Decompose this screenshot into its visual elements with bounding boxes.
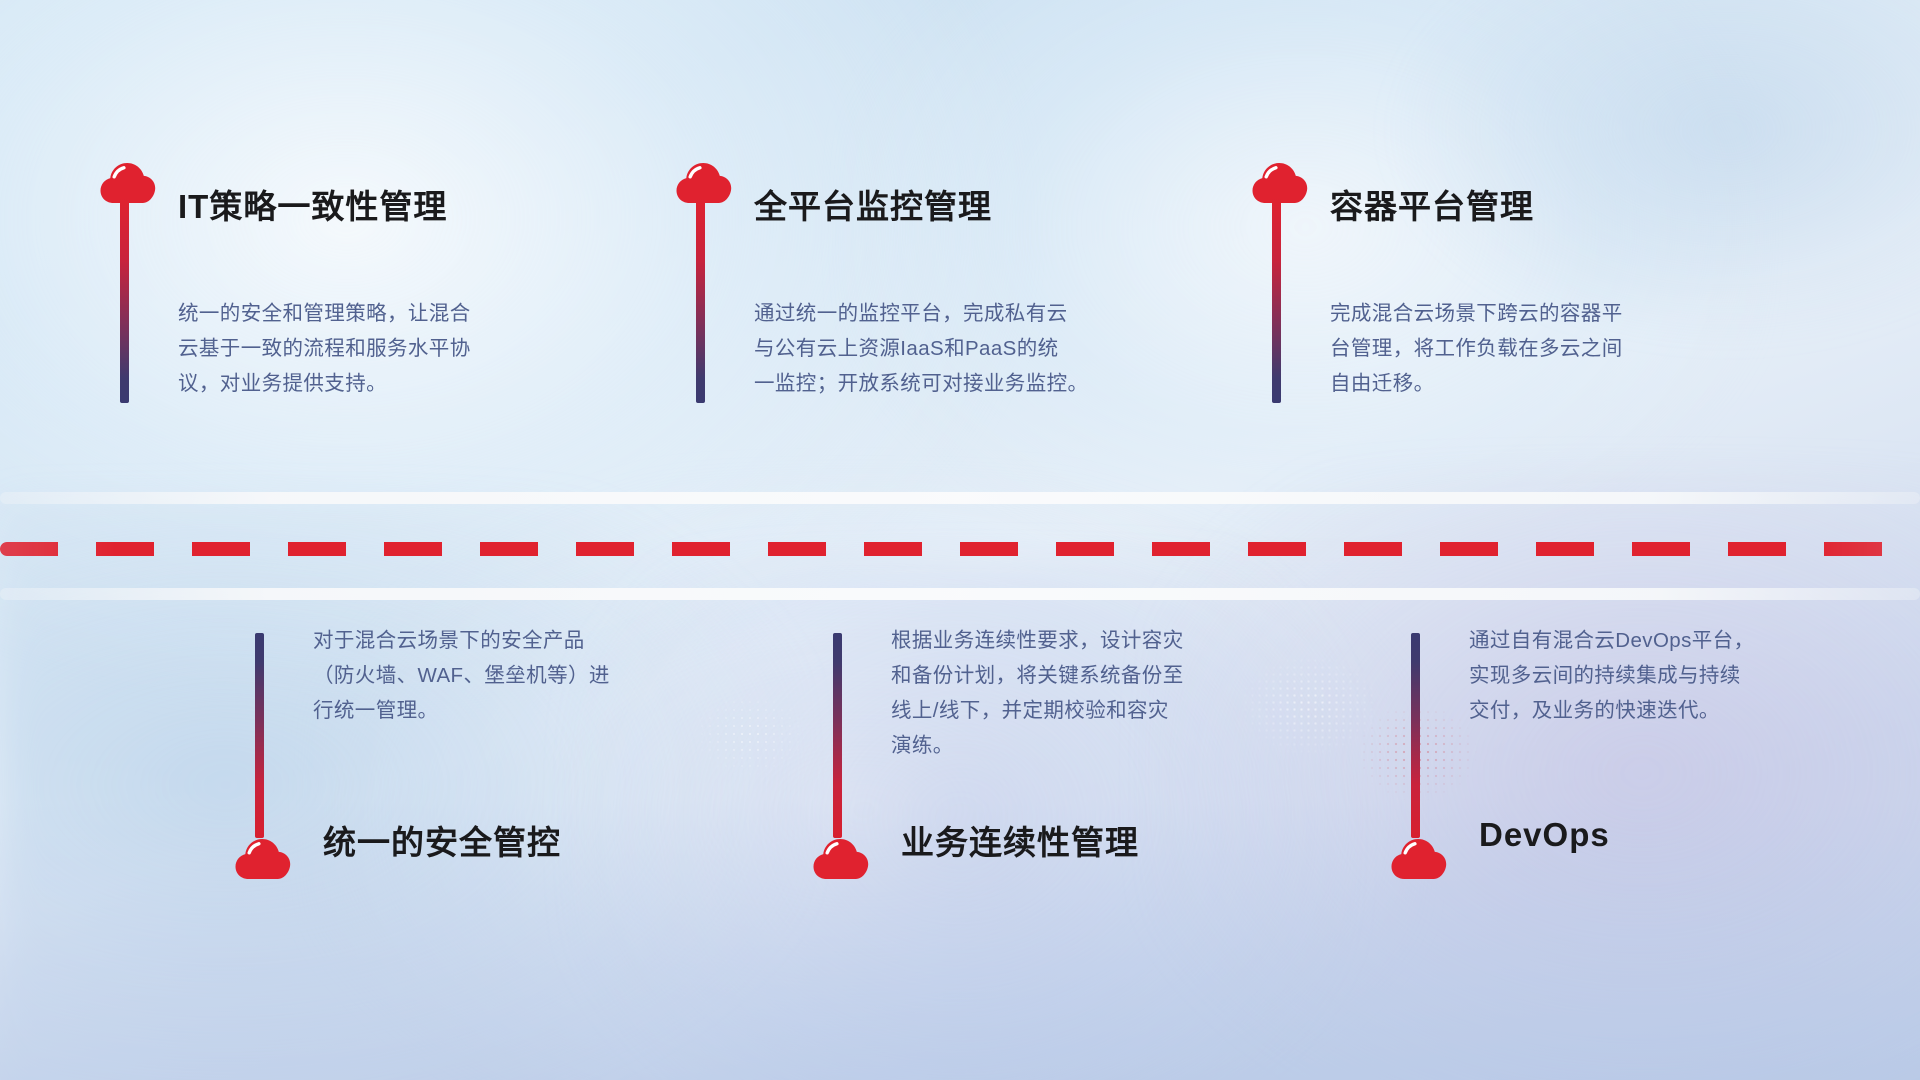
desc-line: 根据业务连续性要求，设计容灾 xyxy=(891,623,1184,658)
road-dashed-centerline xyxy=(0,542,1920,556)
cloud-icon xyxy=(812,836,870,880)
pin-stem xyxy=(1272,198,1281,403)
card-description: 通过自有混合云DevOps平台， 实现多云间的持续集成与持续 交付，及业务的快速… xyxy=(1469,623,1754,728)
infographic-canvas: IT策略一致性管理 统一的安全和管理策略，让混合 云基于一致的流程和服务水平协 … xyxy=(0,0,1920,1080)
desc-line: 一监控；开放系统可对接业务监控。 xyxy=(754,366,1088,401)
pin-stem xyxy=(1411,633,1420,838)
desc-line: 通过统一的监控平台，完成私有云 xyxy=(754,296,1088,331)
desc-line: 和备份计划，将关键系统备份至 xyxy=(891,658,1184,693)
desc-line: 完成混合云场景下跨云的容器平 xyxy=(1330,296,1623,331)
card-title: IT策略一致性管理 xyxy=(178,180,447,228)
card-title: 统一的安全管控 xyxy=(323,816,561,864)
card-description: 对于混合云场景下的安全产品 （防火墙、WAF、堡垒机等）进 行统一管理。 xyxy=(313,623,610,728)
cloud-icon xyxy=(1390,836,1448,880)
card-description: 根据业务连续性要求，设计容灾 和备份计划，将关键系统备份至 线上/线下，并定期校… xyxy=(891,623,1184,763)
desc-line: 云基于一致的流程和服务水平协 xyxy=(178,331,471,366)
desc-line: 台管理，将工作负载在多云之间 xyxy=(1330,331,1623,366)
desc-line: 对于混合云场景下的安全产品 xyxy=(313,623,610,658)
desc-line: 演练。 xyxy=(891,728,1184,763)
card-title: 业务连续性管理 xyxy=(901,816,1139,864)
card-description: 完成混合云场景下跨云的容器平 台管理，将工作负载在多云之间 自由迁移。 xyxy=(1330,296,1623,401)
card-description: 统一的安全和管理策略，让混合 云基于一致的流程和服务水平协 议，对业务提供支持。 xyxy=(178,296,471,401)
desc-line: 线上/线下，并定期校验和容灾 xyxy=(891,693,1184,728)
desc-line: 统一的安全和管理策略，让混合 xyxy=(178,296,471,331)
desc-line: 行统一管理。 xyxy=(313,693,610,728)
pin-stem xyxy=(255,633,264,838)
desc-line: 交付，及业务的快速迭代。 xyxy=(1469,693,1754,728)
desc-line: 议，对业务提供支持。 xyxy=(178,366,471,401)
background-tint-top-right xyxy=(1382,0,1920,346)
pin-stem xyxy=(120,198,129,403)
cloud-icon xyxy=(234,836,292,880)
desc-line: （防火墙、WAF、堡垒机等）进 xyxy=(313,658,610,693)
card-description: 通过统一的监控平台，完成私有云 与公有云上资源IaaS和PaaS的统 一监控；开… xyxy=(754,296,1088,401)
pin-stem xyxy=(833,633,842,838)
road-band-bottom xyxy=(0,588,1920,600)
card-title: DevOps xyxy=(1479,816,1610,854)
desc-line: 通过自有混合云DevOps平台， xyxy=(1469,623,1754,658)
desc-line: 与公有云上资源IaaS和PaaS的统 xyxy=(754,331,1088,366)
desc-line: 实现多云间的持续集成与持续 xyxy=(1469,658,1754,693)
pin-stem xyxy=(696,198,705,403)
card-title: 容器平台管理 xyxy=(1330,180,1534,228)
card-title: 全平台监控管理 xyxy=(754,180,992,228)
desc-line: 自由迁移。 xyxy=(1330,366,1623,401)
road-band-top xyxy=(0,492,1920,504)
